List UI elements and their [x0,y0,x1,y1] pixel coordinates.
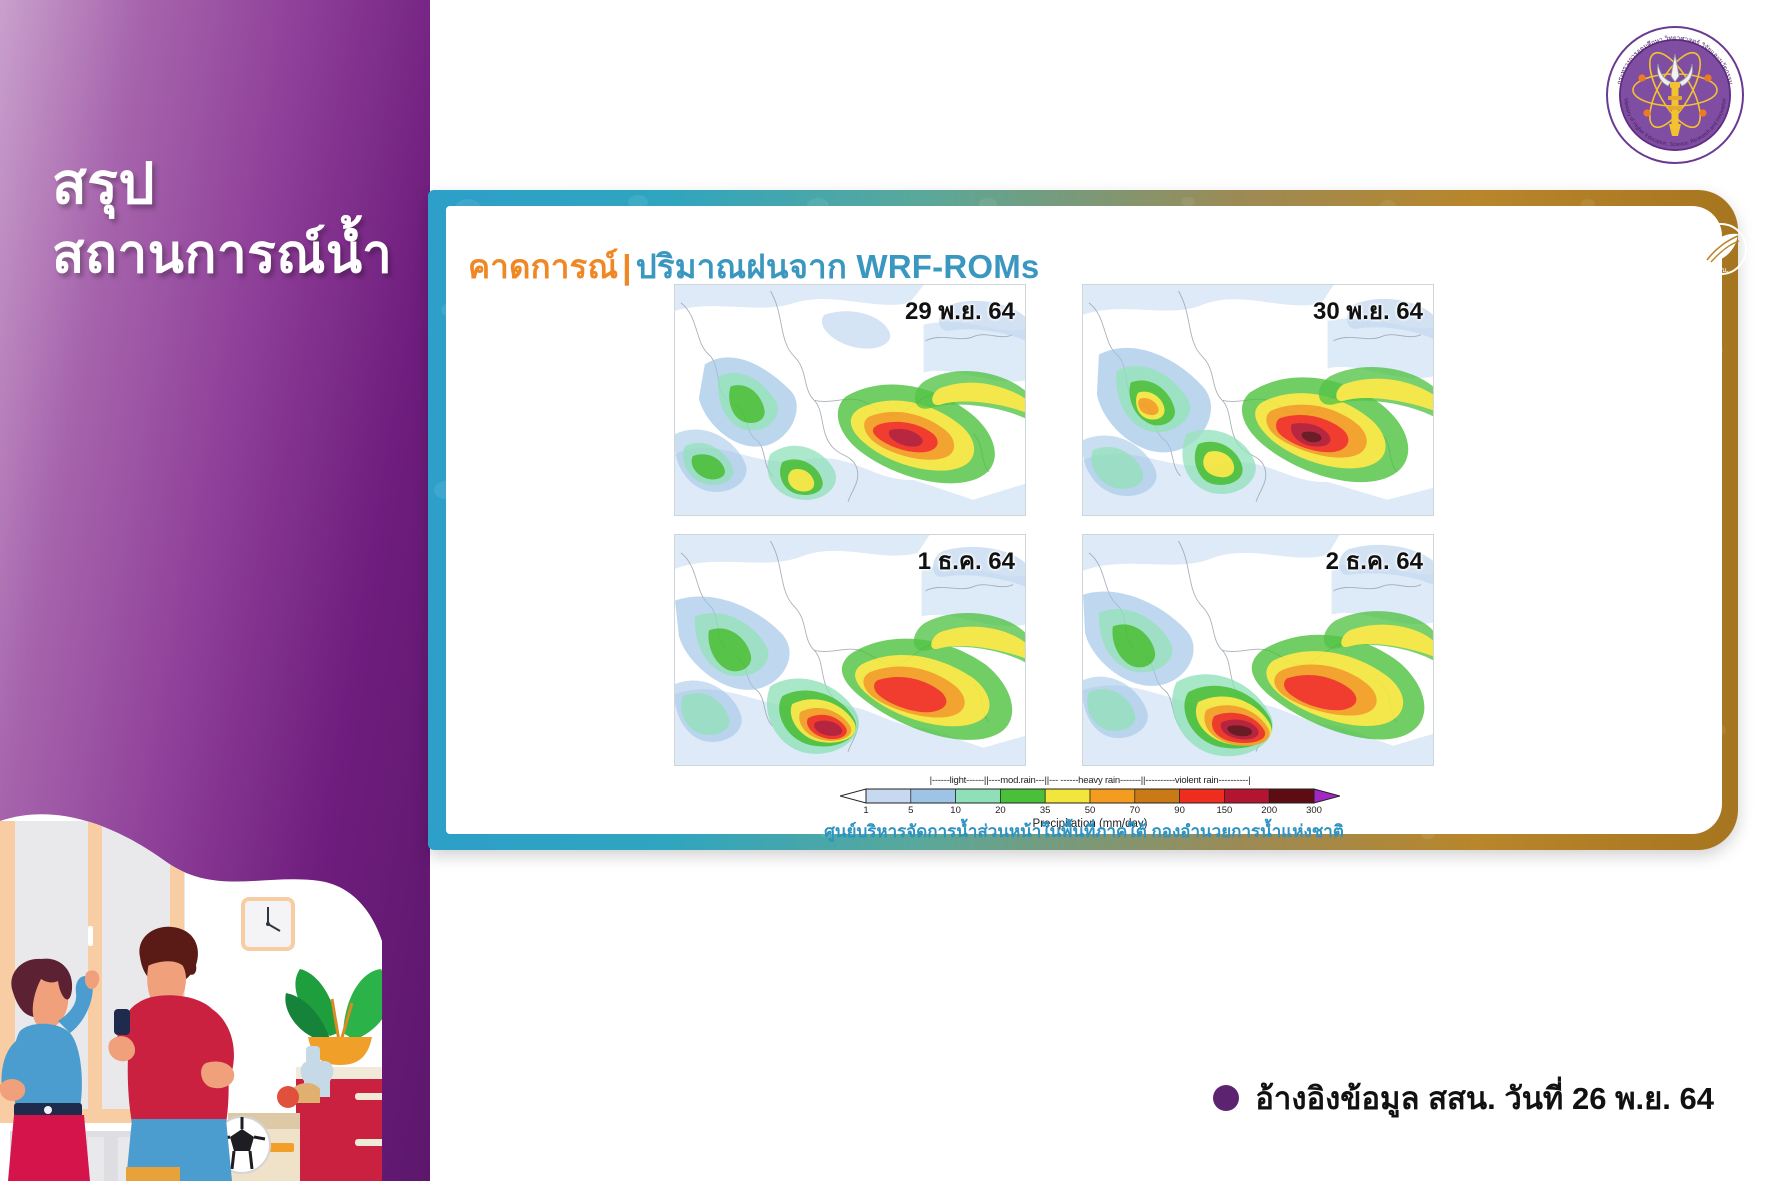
panel-title-separator: | [618,248,635,285]
colorbar-swatch [911,789,956,803]
colorbar-tick: 90 [1174,805,1185,816]
colorbar-tick: 20 [995,805,1006,816]
panel-title-main: ปริมาณฝนจาก WRF-ROMs [636,248,1040,285]
forecast-map-2[interactable]: 1 ธ.ค. 64 [674,534,1026,766]
panel-title-prefix: คาดการณ์ [468,248,618,285]
svg-text:น้ำ: น้ำ [1640,242,1665,269]
bullet-dot-icon [1213,1085,1239,1111]
forecast-map-0[interactable]: 29 พ.ย. 64 [674,284,1026,516]
panel-credit: ศูนย์บริหารจัดการน้ำส่วนหน้าในพื้นที่ภาค… [446,818,1722,845]
hii-leaf-logo: สสน. [1694,222,1748,276]
forecast-map-3[interactable]: 2 ธ.ค. 64 [1082,534,1434,766]
ministry-seal-icon: กระทรวงการอุดมศึกษา วิทยาศาสตร์ วิจัยและ… [1600,20,1750,170]
colorbar-swatch [1000,789,1045,803]
svg-text:สสน.: สสน. [1713,266,1729,274]
reference-text: อ้างอิงข้อมูล สสน. วันที่ 26 พ.ย. 64 [1255,1073,1714,1123]
colorbar-swatch [1269,789,1314,803]
colorbar-swatch [1090,789,1135,803]
colorbar-ticks: 15102035507090150200300 [840,805,1340,817]
map-date-label: 1 ธ.ค. 64 [918,541,1015,580]
colorbar-tick: 10 [950,805,961,816]
colorbar-swatches [840,788,1340,804]
page-title: สรุป สถานการณ์น้ำ [52,148,422,289]
page-title-line1: สรุป [52,152,155,216]
slide-content: คาดการณ์|ปริมาณฝนจาก WRF-ROMs [446,206,1722,834]
reference-note: อ้างอิงข้อมูล สสน. วันที่ 26 พ.ย. 64 [1213,1073,1714,1123]
forecast-map-1[interactable]: 30 พ.ย. 64 [1082,284,1434,516]
colorbar-swatch [956,789,1001,803]
colorbar-swatch [1180,789,1225,803]
map-date-label: 30 พ.ย. 64 [1313,291,1423,330]
colorbar-tick: 5 [908,805,913,816]
colorbar-category-bands: |------light------||----mod.rain---||---… [840,774,1340,787]
page-title-line2: สถานการณ์น้ำ [52,221,422,289]
colorbar-tick: 35 [1040,805,1051,816]
colorbar-tick: 150 [1216,805,1232,816]
colorbar-tick: 300 [1306,805,1322,816]
colorbar-tick: 50 [1085,805,1096,816]
sidebar-panel: สรุป สถานการณ์น้ำ [0,0,430,1181]
colorbar-swatch [1224,789,1269,803]
forecast-map-grid: 29 พ.ย. 64 [674,284,1514,766]
colorbar-swatch [1045,789,1090,803]
colorbar-tick: 1 [863,805,868,816]
colorbar-swatch [866,789,911,803]
colorbar-tick: 200 [1261,805,1277,816]
precipitation-colorbar: |------light------||----mod.rain---||---… [840,774,1340,822]
colorbar-swatch [1135,789,1180,803]
illustration-people-indoor [0,741,430,1181]
map-date-label: 29 พ.ย. 64 [905,291,1015,330]
map-date-label: 2 ธ.ค. 64 [1326,541,1423,580]
colorbar-tick: 70 [1130,805,1141,816]
